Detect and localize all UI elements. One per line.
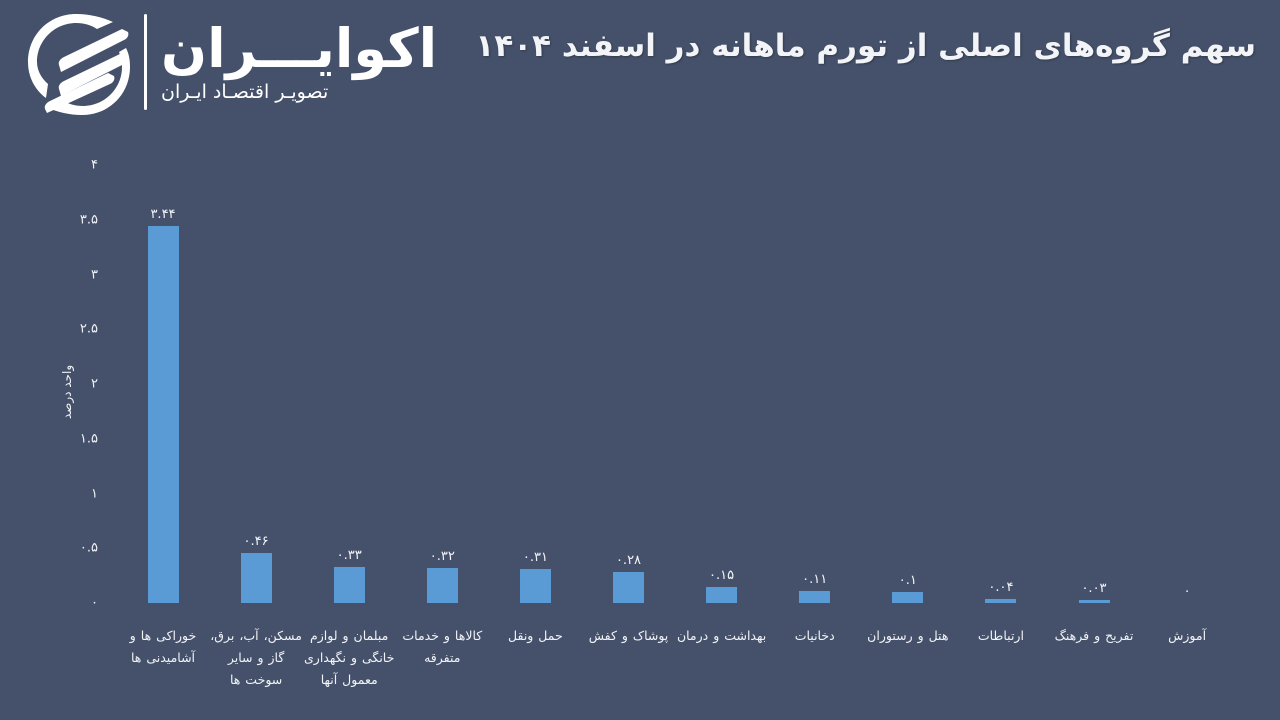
bar-value-label: ۰.۰۳	[1081, 582, 1106, 595]
x-axis-category-label: ارتباطات	[954, 625, 1047, 647]
x-axis-category-label: مسکن، آب، برق، گاز و سایر سوخت ها	[210, 625, 303, 691]
bar-group[interactable]: ۰.۳۳	[303, 549, 396, 603]
bar-rect[interactable]	[799, 591, 830, 603]
bar-rect[interactable]	[892, 592, 923, 603]
bar-value-label: ۰.۳۲	[430, 550, 455, 563]
bar-value-label: ۰.۳۱	[523, 551, 548, 564]
brand-logo-block: اکوایـــران تصویـر اقتصـاد ایـران	[14, 8, 404, 116]
bar-rect[interactable]	[148, 226, 179, 603]
bar-group[interactable]: ۰.۴۶	[210, 535, 303, 603]
bar-group[interactable]: ۰.۱۵	[675, 569, 768, 603]
bar-rect[interactable]	[985, 599, 1016, 603]
bar-value-label: ۰	[1184, 585, 1191, 598]
bar-group[interactable]: ۰	[1141, 585, 1234, 603]
x-axis-category-label: تفریح و فرهنگ	[1048, 625, 1141, 647]
bar-rect[interactable]	[706, 587, 737, 603]
bar-value-label: ۰.۴۶	[244, 535, 269, 548]
bar-rect[interactable]	[427, 568, 458, 603]
x-axis-category-label: حمل ونقل	[489, 625, 582, 647]
bar-group[interactable]: ۳.۴۴	[117, 208, 210, 603]
bar-group[interactable]: ۰.۳۱	[489, 551, 582, 603]
brand-divider	[144, 14, 147, 110]
bar-rect[interactable]	[520, 569, 551, 603]
x-axis-category-label: پوشاک و کفش	[582, 625, 675, 647]
bar-value-label: ۰.۰۴	[988, 581, 1013, 594]
bar-rect[interactable]	[334, 567, 365, 603]
bar-rect[interactable]	[613, 572, 644, 603]
x-axis-category-label: کالاها و خدمات متفرقه	[396, 625, 489, 669]
bar-value-label: ۰.۳۳	[337, 549, 362, 562]
bar-value-label: ۰.۱	[899, 574, 917, 587]
eco-iran-swoosh-logo-icon	[18, 9, 130, 115]
bar-value-label: ۰.۲۸	[616, 554, 641, 567]
bar-group[interactable]: ۰.۲۸	[582, 554, 675, 603]
x-axis-category-label: دخانیات	[768, 625, 861, 647]
chart-header: اکوایـــران تصویـر اقتصـاد ایـران سهم گر…	[0, 0, 1280, 125]
x-axis-category-label: بهداشت و درمان	[675, 625, 768, 647]
bar-group[interactable]: ۰.۰۳	[1048, 582, 1141, 603]
bar-group[interactable]: ۰.۱۱	[768, 573, 861, 603]
x-axis-category-label: هتل و رستوران	[861, 625, 954, 647]
x-axis-category-label: آموزش	[1141, 625, 1234, 647]
bar-group[interactable]: ۰.۳۲	[396, 550, 489, 603]
x-axis-category-label: مبلمان و لوازم خانگی و نگهداری معمول آنه…	[303, 625, 396, 691]
bar-value-label: ۳.۴۴	[150, 208, 175, 221]
bar-group[interactable]: ۰.۰۴	[954, 581, 1047, 603]
bar-rect[interactable]	[241, 553, 272, 603]
brand-tagline: تصویـر اقتصـاد ایـران	[161, 81, 328, 103]
bar-value-label: ۰.۱۵	[709, 569, 734, 582]
bar-rect[interactable]	[1079, 600, 1110, 603]
x-axis-category-label: خوراکی ها و آشامیدنی ها	[117, 625, 210, 669]
bar-group[interactable]: ۰.۱	[861, 574, 954, 603]
chart-plot-area: ۰۰.۵۱۱.۵۲۲.۵۳۳.۵۴ واحد درصد ۳.۴۴۰.۴۶۰.۳۳…	[0, 130, 1280, 720]
page-title: سهم گروه‌های اصلی از تورم ماهانه در اسفن…	[396, 26, 1256, 68]
bar-value-label: ۰.۱۱	[802, 573, 827, 586]
